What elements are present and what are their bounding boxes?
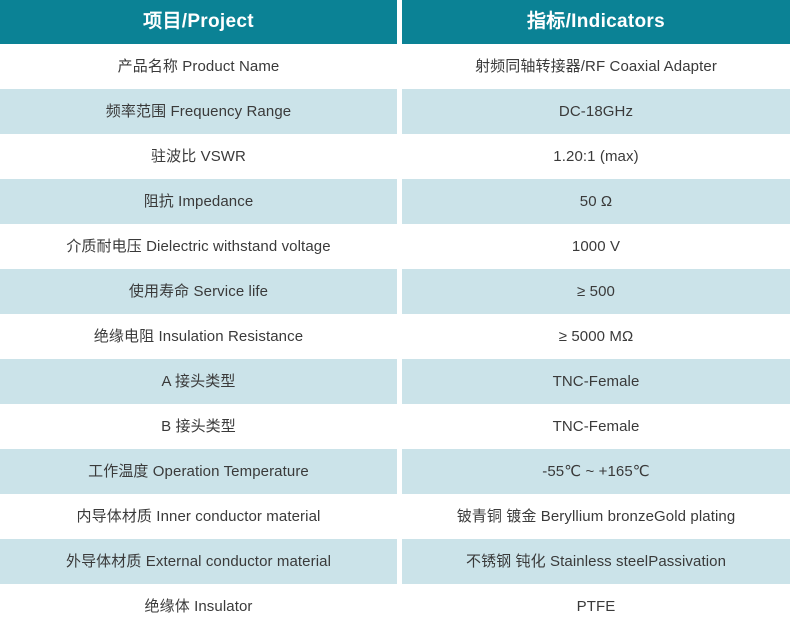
column-header-project: 项目/Project	[0, 0, 397, 44]
table-row: A 接头类型TNC-Female	[0, 359, 800, 404]
table-body: 产品名称 Product Name射频同轴转接器/RF Coaxial Adap…	[0, 44, 800, 629]
row-tail	[790, 314, 800, 359]
cell-project: 外导体材质 External conductor material	[0, 539, 397, 584]
row-tail	[790, 449, 800, 494]
cell-project: B 接头类型	[0, 404, 397, 449]
row-tail	[790, 539, 800, 584]
table-header-row: 项目/Project 指标/Indicators	[0, 0, 800, 44]
cell-indicator: 1.20:1 (max)	[402, 134, 790, 179]
cell-project: 产品名称 Product Name	[0, 44, 397, 89]
cell-project: 绝缘体 Insulator	[0, 584, 397, 629]
table-row: 绝缘体 InsulatorPTFE	[0, 584, 800, 629]
row-tail	[790, 224, 800, 269]
cell-project: 阻抗 Impedance	[0, 179, 397, 224]
cell-project: 工作温度 Operation Temperature	[0, 449, 397, 494]
row-tail	[790, 44, 800, 89]
cell-indicator: TNC-Female	[402, 404, 790, 449]
table-row: B 接头类型TNC-Female	[0, 404, 800, 449]
table-row: 产品名称 Product Name射频同轴转接器/RF Coaxial Adap…	[0, 44, 800, 89]
cell-project: 绝缘电阻 Insulation Resistance	[0, 314, 397, 359]
row-tail	[790, 359, 800, 404]
row-tail	[790, 269, 800, 314]
cell-indicator: -55℃ ~ +165℃	[402, 449, 790, 494]
row-tail	[790, 89, 800, 134]
cell-indicator: 1000 V	[402, 224, 790, 269]
cell-project: 使用寿命 Service life	[0, 269, 397, 314]
cell-project: 频率范围 Frequency Range	[0, 89, 397, 134]
table-row: 介质耐电压 Dielectric withstand voltage1000 V	[0, 224, 800, 269]
column-header-indicators: 指标/Indicators	[402, 0, 790, 44]
cell-indicator: ≥ 5000 MΩ	[402, 314, 790, 359]
row-tail	[790, 494, 800, 539]
table-row: 频率范围 Frequency RangeDC-18GHz	[0, 89, 800, 134]
cell-indicator: DC-18GHz	[402, 89, 790, 134]
table-row: 使用寿命 Service life≥ 500	[0, 269, 800, 314]
table-row: 驻波比 VSWR1.20:1 (max)	[0, 134, 800, 179]
cell-project: A 接头类型	[0, 359, 397, 404]
table-row: 绝缘电阻 Insulation Resistance≥ 5000 MΩ	[0, 314, 800, 359]
table-row: 内导体材质 Inner conductor material铍青铜 镀金 Ber…	[0, 494, 800, 539]
cell-project: 介质耐电压 Dielectric withstand voltage	[0, 224, 397, 269]
cell-indicator: TNC-Female	[402, 359, 790, 404]
row-tail	[790, 179, 800, 224]
table-row: 外导体材质 External conductor material不锈钢 钝化 …	[0, 539, 800, 584]
cell-indicator: 铍青铜 镀金 Beryllium bronzeGold plating	[402, 494, 790, 539]
specification-table: 项目/Project 指标/Indicators 产品名称 Product Na…	[0, 0, 800, 633]
row-tail	[790, 404, 800, 449]
row-tail	[790, 134, 800, 179]
cell-project: 驻波比 VSWR	[0, 134, 397, 179]
cell-project: 内导体材质 Inner conductor material	[0, 494, 397, 539]
cell-indicator: 不锈钢 钝化 Stainless steelPassivation	[402, 539, 790, 584]
table-row: 阻抗 Impedance50 Ω	[0, 179, 800, 224]
cell-indicator: 射频同轴转接器/RF Coaxial Adapter	[402, 44, 790, 89]
cell-indicator: PTFE	[402, 584, 790, 629]
header-row-tail	[790, 0, 800, 44]
table-row: 工作温度 Operation Temperature-55℃ ~ +165℃	[0, 449, 800, 494]
cell-indicator: ≥ 500	[402, 269, 790, 314]
row-tail	[790, 584, 800, 629]
cell-indicator: 50 Ω	[402, 179, 790, 224]
